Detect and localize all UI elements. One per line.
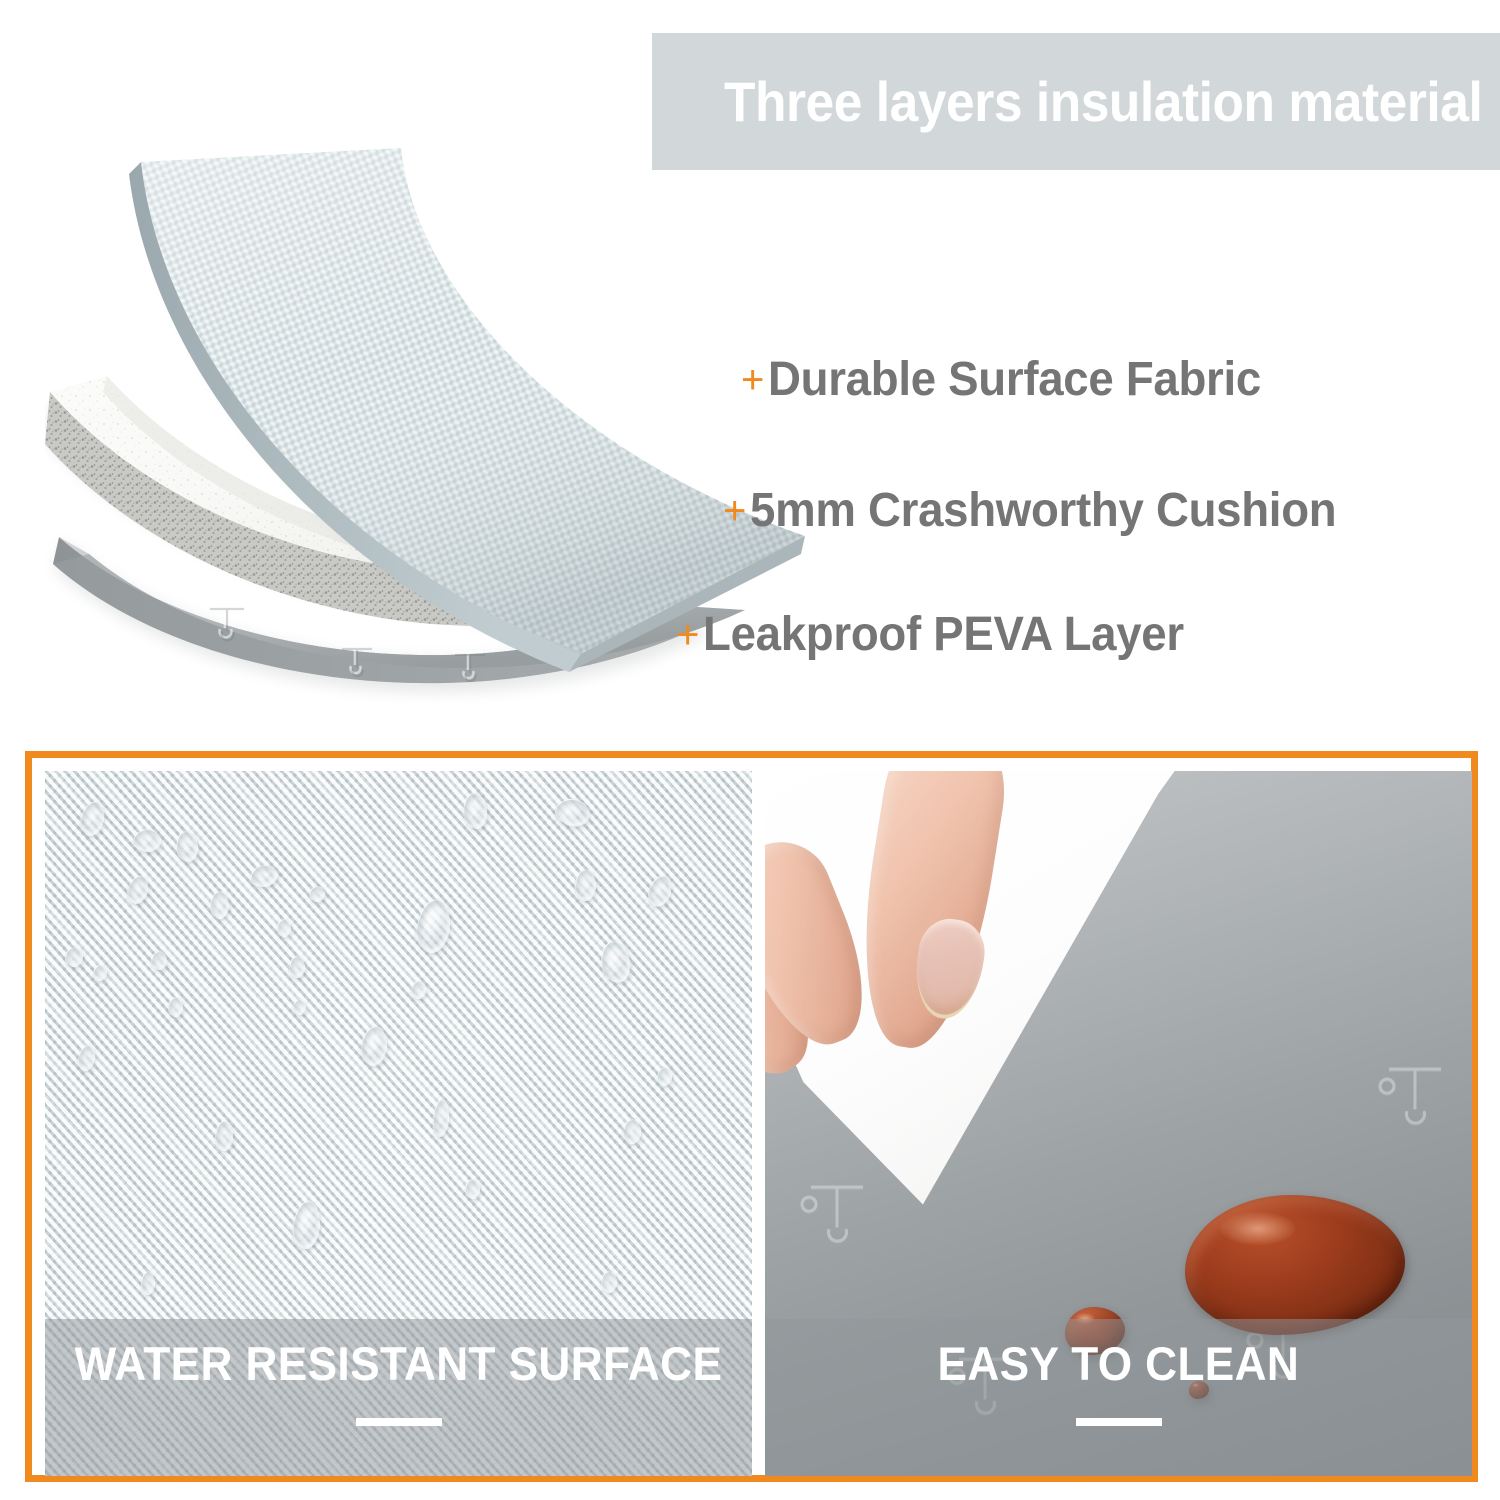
embossed-brand-mark [1371,1053,1472,1143]
panel-caption: WATER RESISTANT SURFACE [75,1339,723,1388]
water-droplet [411,981,426,999]
plus-icon: + [741,360,764,400]
panel-caption: EASY TO CLEAN [938,1339,1300,1388]
water-droplet [601,1271,617,1293]
water-droplet [93,965,107,981]
plus-icon: + [723,491,746,531]
water-droplet [210,891,229,919]
embossed-brand-mark [793,1171,903,1261]
water-droplet [293,999,306,1015]
water-droplet [168,997,183,1017]
water-droplet [65,947,83,967]
woven-fabric-layer [129,148,805,672]
caption-rule [356,1418,442,1426]
caption-band-water-resistant: WATER RESISTANT SURFACE [45,1319,752,1476]
water-droplet [309,886,325,902]
caption-rule [1076,1418,1162,1426]
water-droplet [465,1179,480,1199]
water-droplet [657,1067,672,1086]
water-droplet [575,869,596,901]
feature-panels-frame: WATER RESISTANT SURFACE [25,751,1478,1482]
page-title: Three layers insulation material [724,74,1482,130]
liquid-spill-large [1185,1195,1405,1335]
caption-band-easy-to-clean: EASY TO CLEAN [765,1319,1472,1476]
water-droplet [141,1271,155,1295]
water-droplet [623,1119,641,1144]
feature-panels: WATER RESISTANT SURFACE [39,765,1478,1482]
layer-label: Durable Surface Fabric [768,356,1261,404]
water-droplet [133,829,161,852]
feature-panel-easy-to-clean: EASY TO CLEAN [765,771,1472,1476]
layer-label: 5mm Crashworthy Cushion [750,487,1336,535]
index-finger [845,771,1015,1056]
layer-callout-durable-surface-fabric: + Durable Surface Fabric [741,356,1287,404]
hand [765,771,1060,1073]
layer-label: Leakproof PEVA Layer [703,611,1184,659]
water-droplet [277,919,291,937]
layer-callout-crashworthy-cushion: + 5mm Crashworthy Cushion [723,487,1368,535]
layer-callout-leakproof-peva: + Leakproof PEVA Layer [676,611,1210,659]
feature-panel-water-resistant: WATER RESISTANT SURFACE [45,771,752,1476]
water-droplet [151,951,167,970]
water-droplet [215,1121,233,1151]
three-layer-overview-section: Three layers insulation material [0,0,1500,735]
plus-icon: + [676,615,699,655]
water-droplet [289,956,305,978]
